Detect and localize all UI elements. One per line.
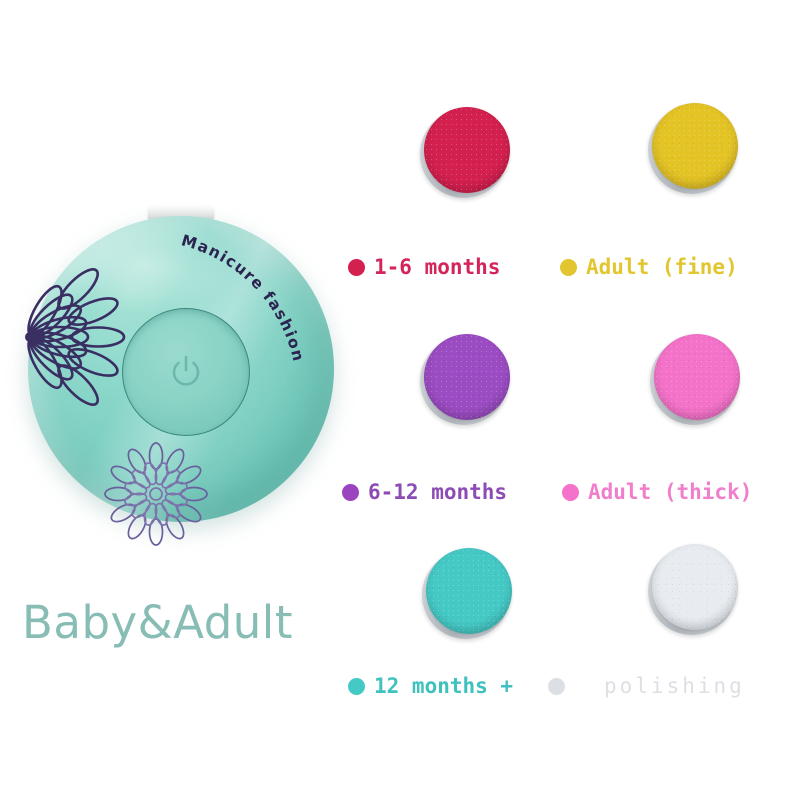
nail-trimmer-device: Manicure fashion — [0, 180, 360, 600]
grinding-head-label: 12 months + — [374, 674, 513, 698]
grinding-head-legend: polishing — [548, 674, 745, 698]
grinding-head-legend: 12 months + — [348, 674, 513, 698]
grinding-disc[interactable] — [650, 334, 740, 424]
disc-abrasive-face — [426, 548, 512, 634]
grinding-head-legend: Adult (thick) — [562, 480, 752, 504]
grinding-head-legend: 1-6 months — [348, 255, 500, 279]
grinding-head-row: 6-12 months Adult (thick) — [340, 320, 800, 510]
grinding-disc[interactable] — [648, 544, 738, 634]
brand-wordmark: Baby&Adult — [22, 596, 293, 649]
grinding-head-legend: Adult (fine) — [560, 255, 738, 279]
disc-abrasive-face — [652, 544, 738, 630]
grinding-disc[interactable] — [420, 107, 510, 197]
legend-color-dot — [560, 259, 577, 276]
legend-color-dot — [348, 259, 365, 276]
grinding-head-item[interactable]: 12 months + — [340, 530, 570, 720]
grinding-head-item[interactable]: 6-12 months — [340, 320, 570, 510]
grinding-disc[interactable] — [648, 103, 738, 193]
power-button[interactable] — [122, 308, 250, 436]
flower-pattern-small-icon — [104, 442, 208, 546]
grinding-head-label: polishing — [604, 674, 745, 698]
grinding-disc[interactable] — [422, 548, 512, 638]
grinding-head-item[interactable]: Adult (thick) — [570, 320, 800, 510]
grinding-head-label: 1-6 months — [374, 255, 500, 279]
grinding-head-grid: 1-6 months Adult (fine) — [340, 95, 800, 705]
grinding-head-label: Adult (fine) — [586, 255, 738, 279]
legend-color-dot — [562, 484, 579, 501]
grinding-head-legend: 6-12 months — [342, 480, 507, 504]
grinding-head-item[interactable]: 1-6 months — [340, 95, 570, 285]
power-symbol-icon — [169, 354, 203, 390]
legend-color-dot — [548, 678, 565, 695]
grinding-head-label: 6-12 months — [368, 480, 507, 504]
disc-abrasive-face — [652, 103, 738, 189]
disc-abrasive-face — [424, 334, 510, 420]
legend-color-dot — [348, 678, 365, 695]
disc-abrasive-face — [424, 107, 510, 193]
grinding-disc[interactable] — [420, 334, 510, 424]
grinding-head-row: 12 months + polishing — [340, 530, 800, 720]
grinding-head-item[interactable]: polishing — [570, 530, 800, 720]
grinding-head-label: Adult (thick) — [588, 480, 752, 504]
grinding-head-row: 1-6 months Adult (fine) — [340, 95, 800, 285]
grinding-head-item[interactable]: Adult (fine) — [570, 95, 800, 285]
product-image-canvas: Manicure fashion Baby&Adult 1-6 mont — [0, 0, 800, 800]
disc-abrasive-face — [654, 334, 740, 420]
legend-color-dot — [342, 484, 359, 501]
